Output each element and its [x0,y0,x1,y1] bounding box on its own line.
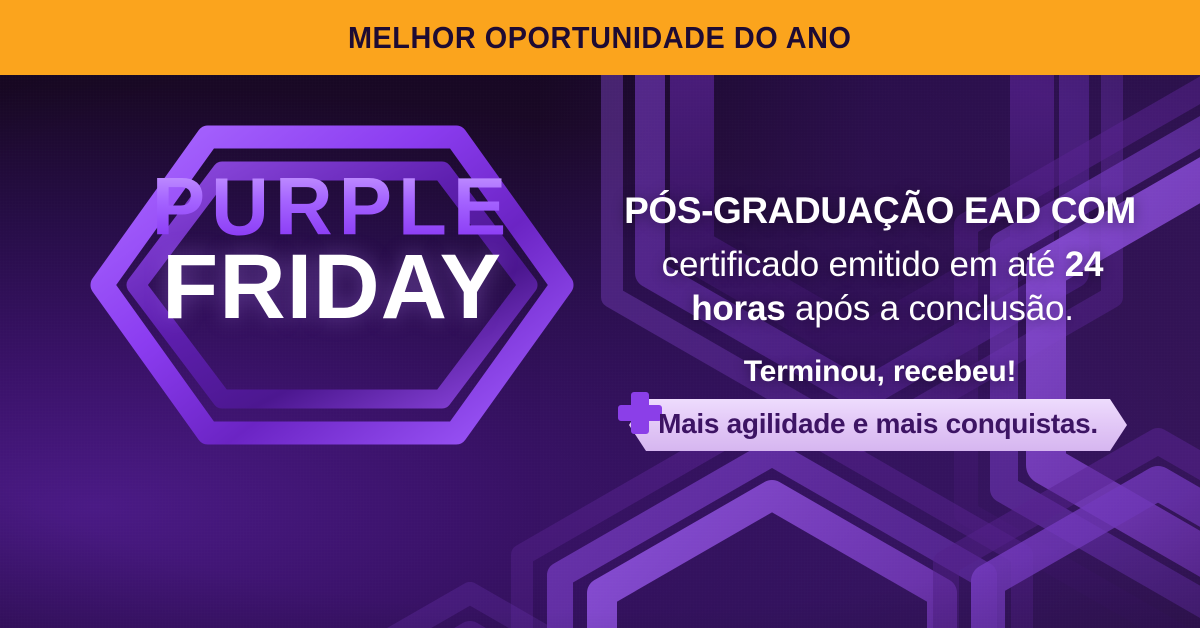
promo-headline: PÓS-GRADUAÇÃO EAD COM [600,190,1160,232]
logo-line-friday: FRIDAY [62,241,602,333]
badge-label: Mais agilidade e mais conquistas. [628,398,1128,450]
purple-friday-logo: PURPLE FRIDAY [62,115,602,455]
promo-copy-block: PÓS-GRADUAÇÃO EAD COM certificado emitid… [600,75,1160,628]
subline-text-part2: após a conclusão. [786,289,1074,328]
top-announcement-text: MELHOR OPORTUNIDADE DO ANO [348,20,852,56]
highlight-badge: Mais agilidade e mais conquistas. [618,390,1138,470]
promotional-banner: MELHOR OPORTUNIDADE DO ANO [0,0,1200,628]
logo-line-purple: PURPLE [62,166,602,248]
logo-wordmark: PURPLE FRIDAY [62,167,602,333]
subline-text-part1: certificado emitido em até [662,245,1065,284]
promo-kicker: Terminou, recebeu! [600,355,1160,389]
promo-subline: certificado emitido em até 24 horas após… [610,243,1155,331]
top-announcement-bar: MELHOR OPORTUNIDADE DO ANO [0,0,1200,75]
